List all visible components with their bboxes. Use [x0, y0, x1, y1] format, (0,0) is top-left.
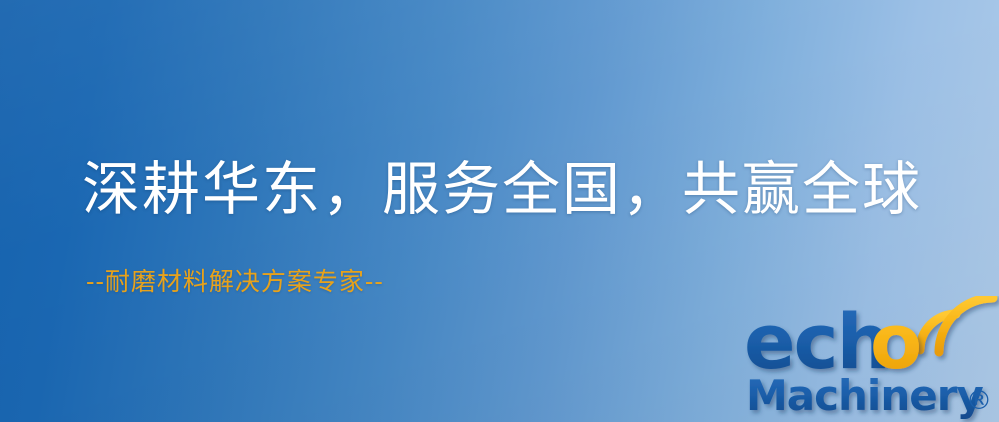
svg-text:®: ® [966, 386, 992, 416]
page-title: 深耕华东，服务全国，共赢全球 [82, 154, 922, 224]
registered-trademark-icon: ® [966, 386, 992, 416]
echo-machinery-logo[interactable]: ech o Machinery ® [744, 296, 999, 422]
logo-tagline: Machinery [746, 371, 983, 420]
hero-banner: 深耕华东，服务全国，共赢全球 --耐磨材料解决方案专家-- [0, 0, 999, 422]
page-subtitle: --耐磨材料解决方案专家-- [86, 266, 384, 298]
svg-text:Machinery: Machinery [746, 371, 983, 420]
echo-wave-icon [920, 298, 993, 352]
